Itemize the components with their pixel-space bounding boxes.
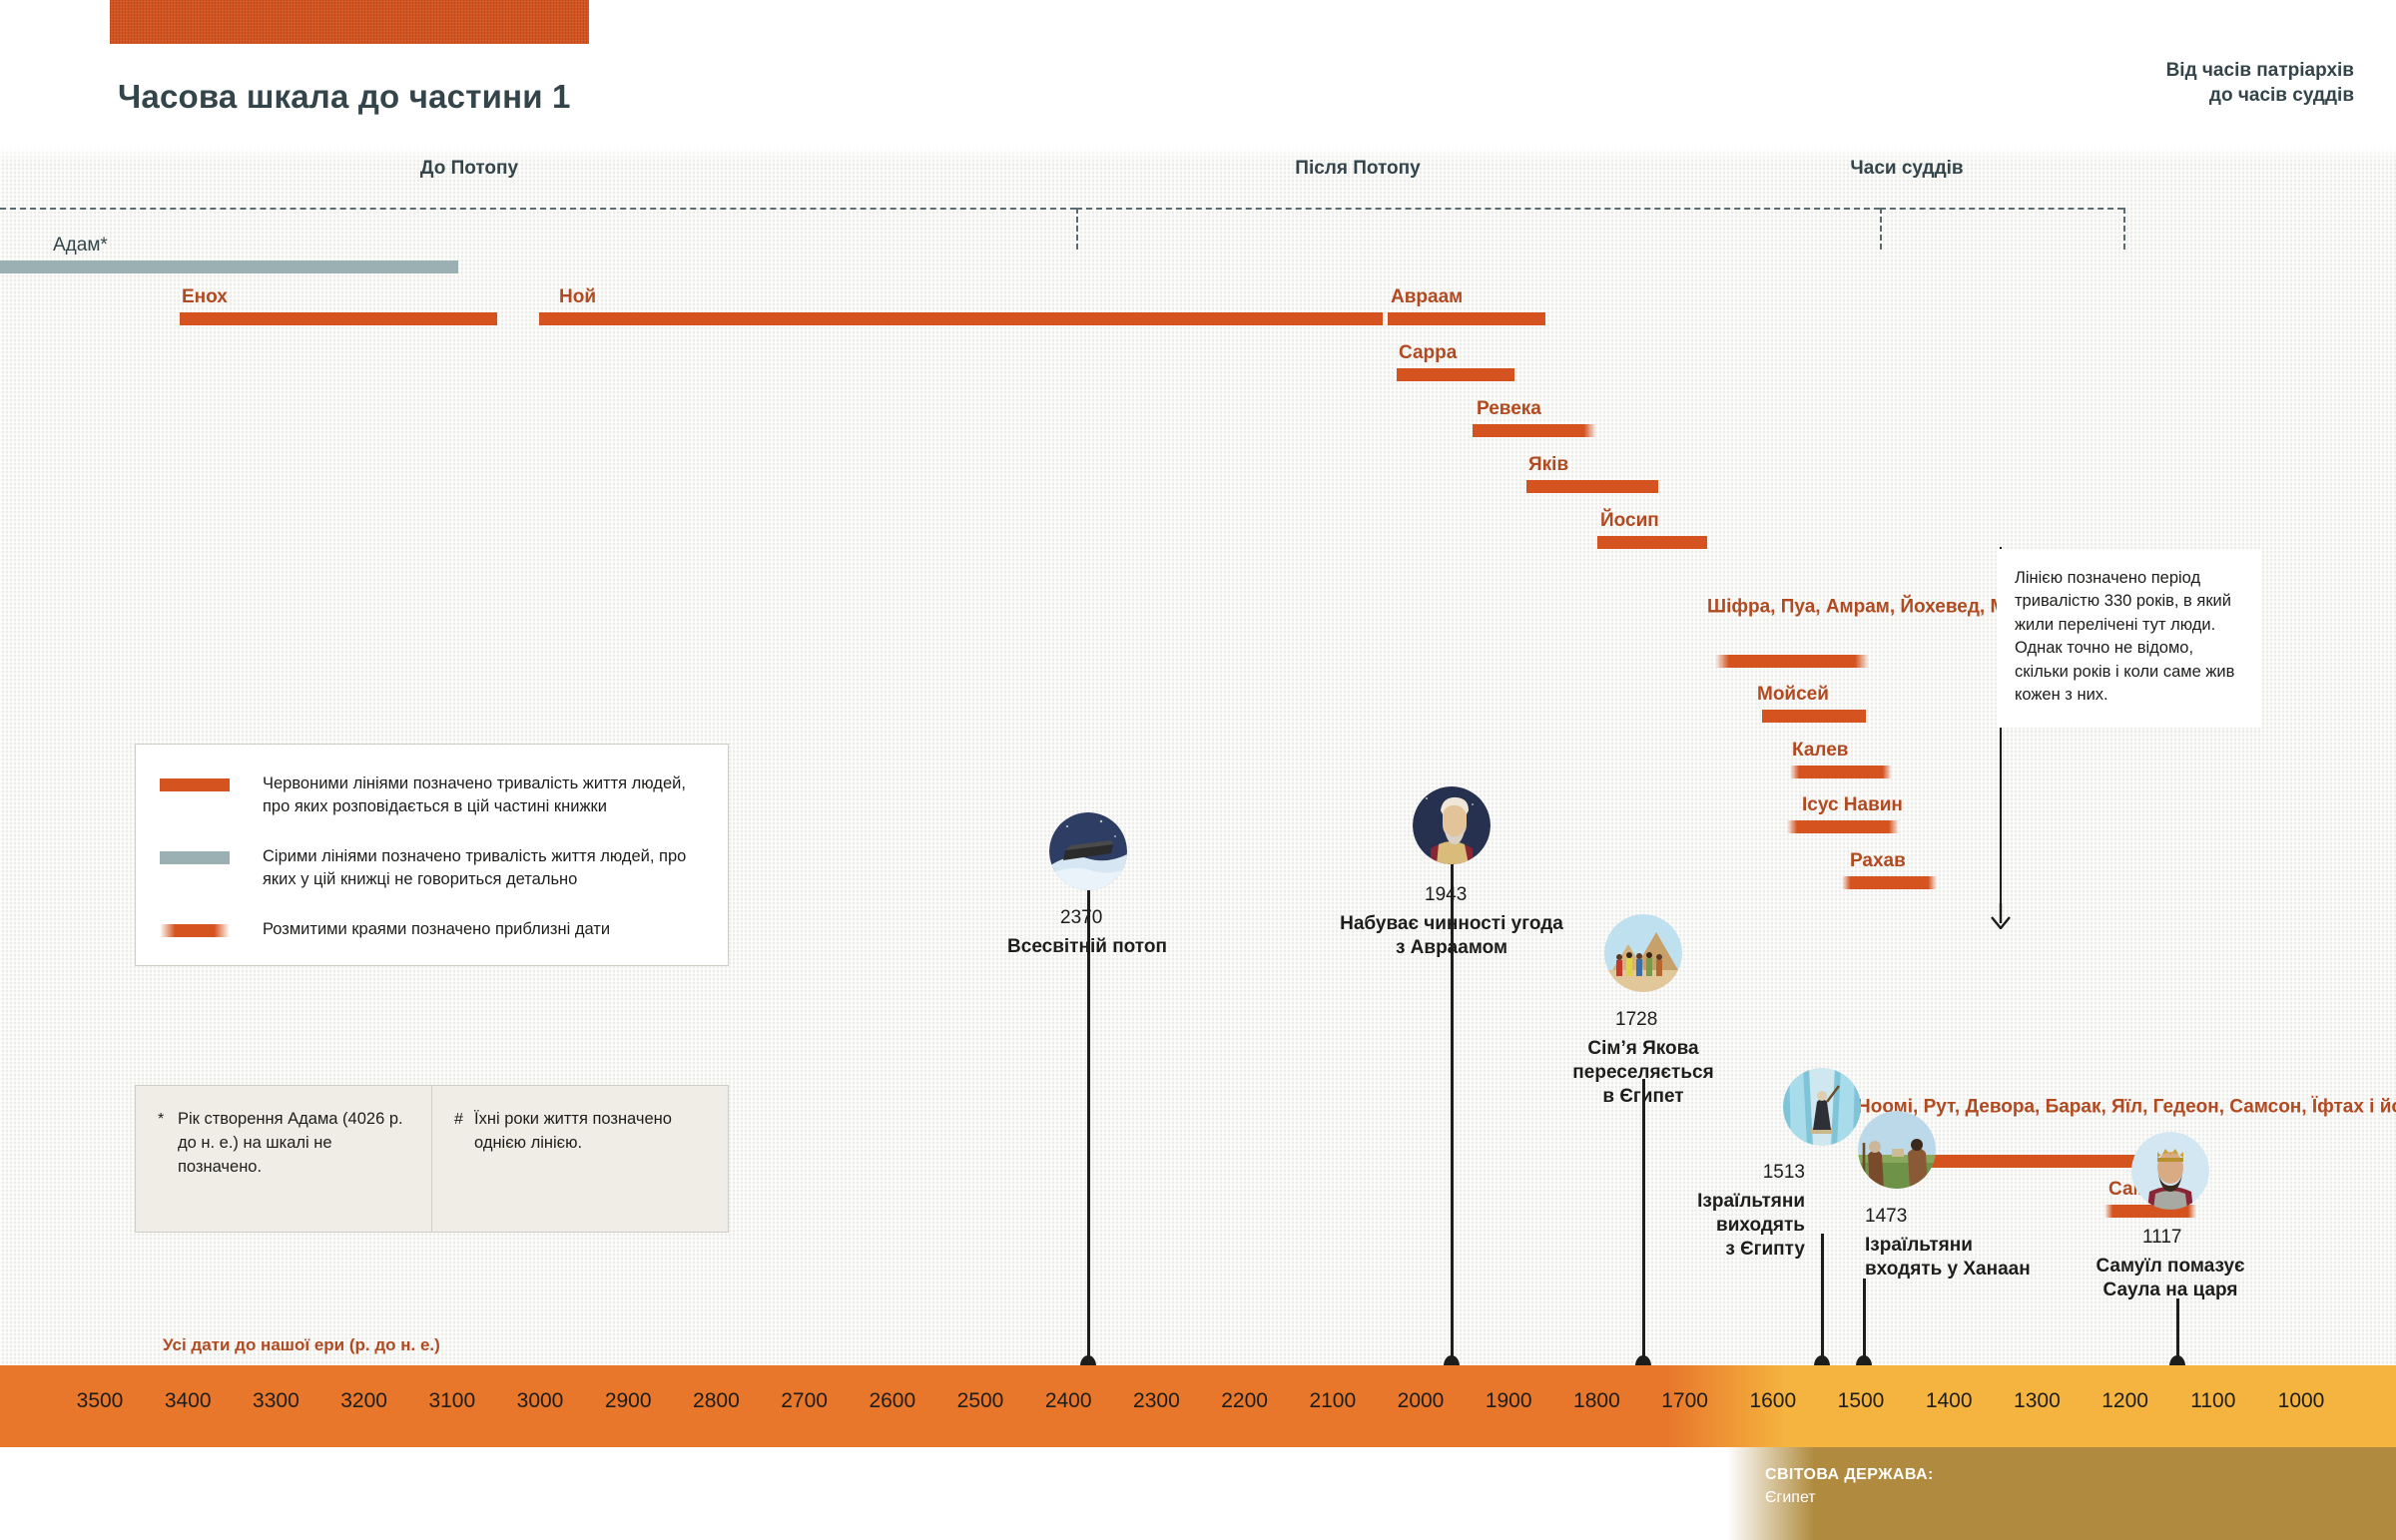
life-bar-adam (0, 260, 458, 273)
event-1513-year: 1513 (1730, 1162, 1805, 1184)
bar-label-moses: Мойсей (1757, 683, 1829, 706)
legend-text-fuzzy: Розмитими краями позначено приблизні дат… (263, 918, 610, 941)
axis-tick-2900: 2900 (605, 1389, 652, 1413)
axis-tick-1400: 1400 (1926, 1389, 1973, 1413)
footnote-asterisk: * Рік створення Адама (4026 р. до н. е.)… (136, 1086, 431, 1232)
axis-tick-2100: 2100 (1309, 1389, 1356, 1413)
axis-tick-1500: 1500 (1838, 1389, 1885, 1413)
bracket-segment-judges (1880, 208, 2123, 210)
event-1117-year: 1117 (2142, 1227, 2181, 1249)
life-bar-rebekah (1473, 424, 1596, 437)
saul-king-portrait-icon (2131, 1132, 2209, 1210)
event-stem-1513 (1821, 1234, 1824, 1365)
world-power-name: Єгипет (1765, 1486, 1934, 1509)
bar-label-caleb: Калев (1792, 739, 1848, 762)
axis-tick-1900: 1900 (1486, 1389, 1532, 1413)
bar-label-joshua: Ісус Навин (1802, 793, 1903, 816)
life-bar-jacob (1526, 480, 1658, 493)
footnote-hash: # Їхні роки життя позначено однією лініє… (431, 1086, 728, 1232)
axis-tick-1700: 1700 (1661, 1389, 1708, 1413)
legend-box: Червоними лініями позначено тривалість ж… (135, 744, 729, 966)
life-bar-enoch (180, 312, 497, 325)
life-bar-moses (1762, 710, 1866, 723)
legend-text-orange: Червоними лініями позначено тривалість ж… (263, 772, 702, 819)
event-1728-text: Сім’я Якова переселяється в Єгипет (1494, 1037, 1793, 1108)
event-2370-year: 2370 (1060, 907, 1102, 929)
abraham-portrait-icon (1413, 786, 1491, 864)
axis-tick-1600: 1600 (1749, 1389, 1796, 1413)
legend-row-grey: Сірими лініями позначено тривалість житт… (160, 845, 702, 892)
callout-note: Лінією позначено період тривалістю 330 р… (1997, 549, 2261, 728)
world-power-title: СВІТОВА ДЕРЖАВА: (1765, 1463, 1934, 1486)
bracket-segment-after-flood (1076, 208, 1880, 210)
bar-label-noah: Ной (559, 285, 596, 308)
axis-tick-2200: 2200 (1221, 1389, 1268, 1413)
legend-swatch-grey-line-icon (160, 851, 230, 864)
bar-label-adam: Адам* (53, 234, 108, 257)
bar-label-judges-group: Ноомі, Рут, Девора, Барак, Яїл, Гедеон, … (1857, 1093, 2396, 1119)
event-1943-year: 1943 (1425, 884, 1467, 906)
axis-tick-2400: 2400 (1045, 1389, 1092, 1413)
axis-tick-1100: 1100 (2190, 1389, 2235, 1413)
axis-tick-1300: 1300 (2014, 1389, 2061, 1413)
legend-row-orange: Червоними лініями позначено тривалість ж… (160, 772, 702, 819)
bar-label-joseph: Йосип (1600, 509, 1659, 532)
bar-label-sarah: Сарра (1399, 341, 1457, 364)
era-label-before-flood: До Потопу (319, 158, 619, 180)
axis-tick-2300: 2300 (1133, 1389, 1180, 1413)
red-sea-crossing-icon (1783, 1068, 1861, 1146)
axis-tick-3500: 3500 (77, 1389, 124, 1413)
legend-text-grey: Сірими лініями позначено тривалість житт… (263, 845, 702, 892)
bracket-leg-end (2123, 208, 2125, 250)
axis-tick-3300: 3300 (253, 1389, 299, 1413)
life-bar-noah (539, 312, 1383, 325)
axis-tick-2000: 2000 (1398, 1389, 1445, 1413)
event-1943-text: Набуває чинності угода з Авраамом (1252, 912, 1651, 960)
event-1513-text: Ізраїльтяни виходять з Єгипту (1637, 1190, 1805, 1261)
life-bar-abraham (1388, 312, 1545, 325)
event-1117-text: Самуїл помазує Саула на царя (2021, 1255, 2320, 1302)
bracket-segment-before-flood (0, 208, 1076, 210)
bar-label-abraham: Авраам (1391, 285, 1463, 308)
footnote-asterisk-mark: * (158, 1108, 178, 1232)
footnote-asterisk-text: Рік створення Адама (4026 р. до н. е.) н… (178, 1108, 411, 1232)
legend-swatch-fuzzy-line-icon (160, 924, 230, 937)
event-1728-year: 1728 (1615, 1009, 1657, 1031)
bar-label-rebekah: Ревека (1477, 397, 1541, 420)
life-bar-rahab (1842, 876, 1937, 889)
legend-row-fuzzy: Розмитими краями позначено приблизні дат… (160, 918, 702, 941)
life-bar-sarah (1397, 368, 1514, 381)
footnote-hash-text: Їхні роки життя позначено однією лінією. (474, 1108, 708, 1232)
axis-tick-2800: 2800 (693, 1389, 740, 1413)
event-2370-text: Всесвітній потоп (922, 935, 1252, 959)
axis-tick-1800: 1800 (1573, 1389, 1620, 1413)
axis-tick-3000: 3000 (517, 1389, 564, 1413)
axis-tick-1200: 1200 (2101, 1389, 2148, 1413)
event-stem-1473 (1863, 1279, 1866, 1365)
era-label-judges: Часи суддів (1757, 158, 2057, 180)
axis-tick-2700: 2700 (781, 1389, 828, 1413)
footnotes-box: * Рік створення Адама (4026 р. до н. е.)… (135, 1085, 729, 1233)
entering-canaan-icon (1858, 1111, 1936, 1189)
bar-label-judges-group-text: Ноомі, Рут, Девора, Барак, Яїл, Гедеон, … (1857, 1096, 2396, 1117)
axis-tick-3100: 3100 (428, 1389, 475, 1413)
page-subtitle-line1: Від часів патріархів (2166, 58, 2354, 83)
axis-tick-3400: 3400 (165, 1389, 212, 1413)
axis-tick-3200: 3200 (340, 1389, 387, 1413)
bracket-leg-judges (1880, 208, 1882, 250)
axis-tick-2600: 2600 (869, 1389, 915, 1413)
bar-label-rahab: Рахав (1850, 849, 1906, 872)
event-1473-year: 1473 (1865, 1206, 1907, 1228)
pyramids-family-icon (1604, 914, 1682, 992)
axis-tick-2500: 2500 (957, 1389, 1004, 1413)
ark-on-mountain-icon (1049, 812, 1127, 890)
axis-note: Усі дати до нашої ери (р. до н. е.) (163, 1335, 440, 1355)
world-power-text: СВІТОВА ДЕРЖАВА: Єгипет (1765, 1463, 1934, 1509)
page-subtitle: Від часів патріархів до часів суддів (2166, 58, 2354, 108)
era-label-after-flood: Після Потопу (1208, 158, 1507, 180)
bracket-leg-flood (1076, 208, 1078, 250)
footnote-hash-mark: # (454, 1108, 474, 1232)
life-bar-joseph (1597, 536, 1707, 549)
page-title: Часова шкала до частини 1 (118, 78, 571, 116)
page-subtitle-line2: до часів суддів (2166, 83, 2354, 108)
arrow-down-icon (1990, 903, 2012, 929)
event-stem-2370 (1087, 890, 1090, 1365)
life-bar-caleb (1790, 766, 1892, 778)
axis-tick-1000: 1000 (2278, 1389, 2325, 1413)
life-bar-shiphrah-group (1715, 655, 1869, 668)
life-bar-joshua (1787, 820, 1899, 833)
legend-swatch-orange-line-icon (160, 778, 230, 791)
bar-label-jacob: Яків (1528, 453, 1568, 476)
bar-label-enoch: Енох (182, 285, 228, 308)
brand-color-block (110, 0, 589, 44)
